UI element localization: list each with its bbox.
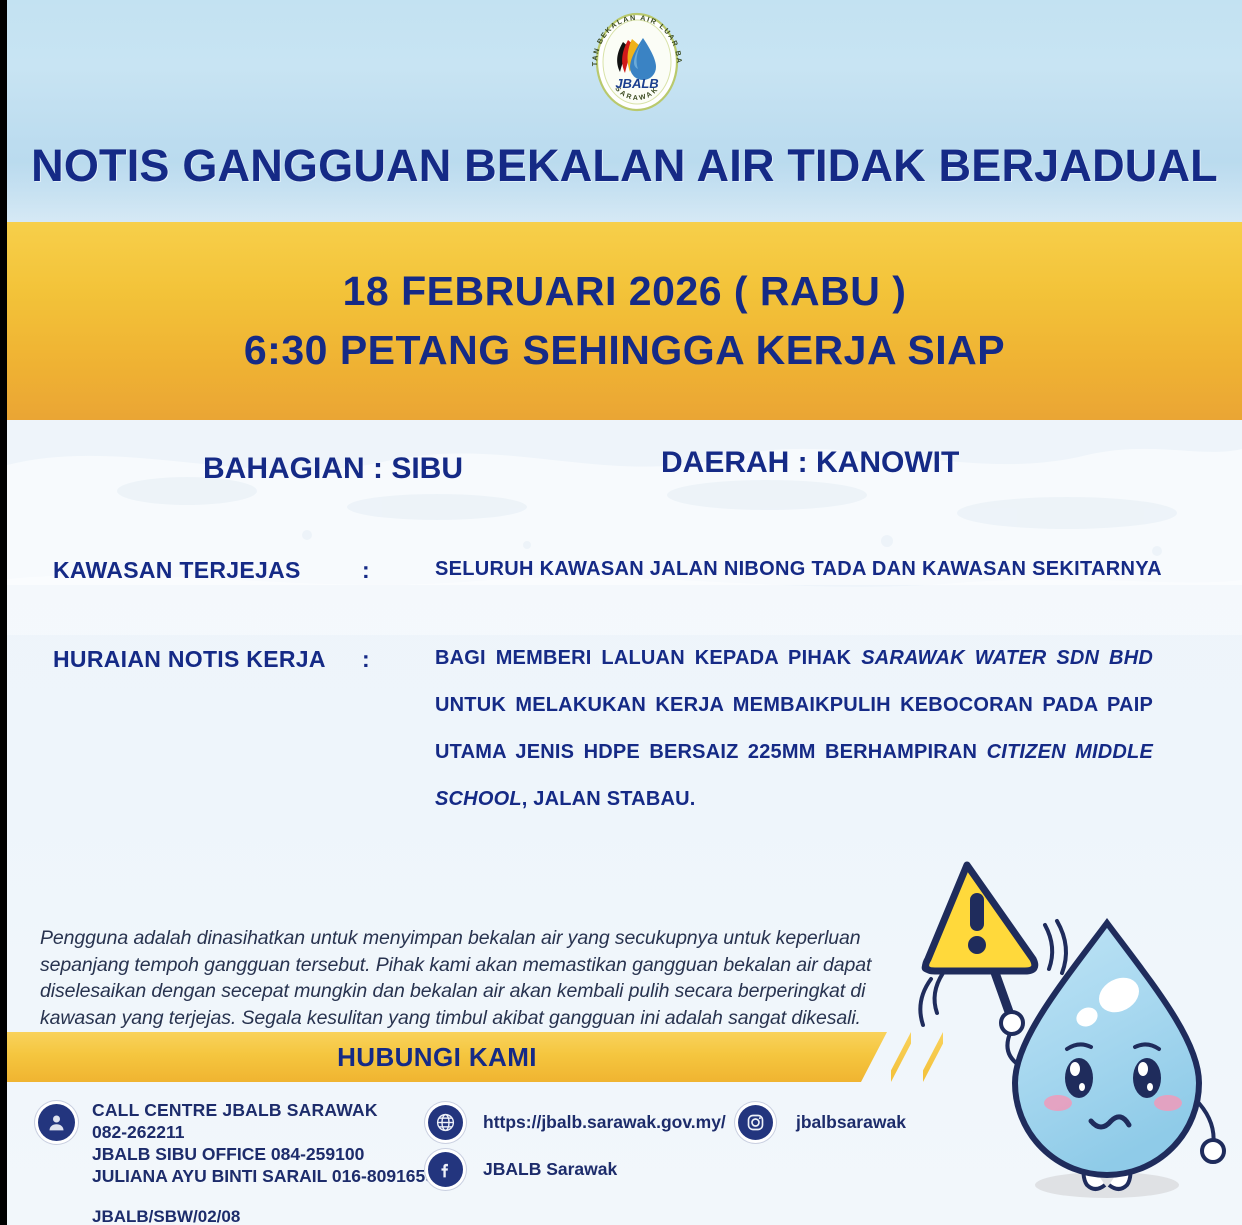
svg-text:JBALB: JBALB: [615, 76, 658, 91]
work-description-line: BAGI MEMBERI LALUAN KEPADA PIHAK SARAWAK…: [435, 647, 1153, 670]
contact-heading: HUBUNGI KAMI: [337, 1042, 557, 1073]
work-description-line: UNTUK MELAKUKAN KERJA MEMBAIKPULIH KEBOC…: [435, 694, 1153, 717]
call-centre-title: CALL CENTRE JBALB SARAWAK: [92, 1100, 378, 1121]
affected-area-value: SELURUH KAWASAN JALAN NIBONG TADA DAN KA…: [435, 558, 1172, 581]
work-description-line: UTAMA JENIS HDPE BERSAIZ 225MM BERHAMPIR…: [435, 741, 1153, 764]
facebook-icon[interactable]: [428, 1152, 463, 1187]
affected-area-colon: :: [362, 557, 370, 584]
work-description-line: SCHOOL, JALAN STABAU.: [435, 788, 1153, 811]
facebook-name[interactable]: JBALB Sarawak: [483, 1159, 617, 1180]
instagram-name[interactable]: jbalbsarawak: [796, 1112, 906, 1133]
notice-date: 18 FEBRUARI 2026 ( RABU ): [343, 268, 907, 315]
notice-title: NOTIS GANGGUAN BEKALAN AIR TIDAK BERJADU…: [7, 140, 1242, 192]
officer-contact[interactable]: JULIANA AYU BINTI SARAIL 016-8091659: [92, 1166, 435, 1187]
water-droplet-mascot: [907, 855, 1242, 1215]
notice-time: 6:30 PETANG SEHINGGA KERJA SIAP: [244, 327, 1005, 374]
work-description-value: BAGI MEMBERI LALUAN KEPADA PIHAK SARAWAK…: [435, 647, 1172, 835]
advisory-text: Pengguna adalah dinasihatkan untuk menyi…: [40, 925, 880, 1032]
division-label: BAHAGIAN : SIBU: [203, 452, 463, 486]
call-centre-number[interactable]: 082-262211: [92, 1122, 184, 1143]
date-banner: 18 FEBRUARI 2026 ( RABU ) 6:30 PETANG SE…: [7, 222, 1242, 420]
affected-area-label: KAWASAN TERJEJAS: [53, 557, 301, 584]
notice-poster: JABATAN BEKALAN AIR LUAR BANDAR SARAWAK …: [0, 0, 1242, 1225]
person-icon: [38, 1104, 75, 1141]
division-district-row: BAHAGIAN : SIBU DAERAH : KANOWIT: [7, 452, 1242, 498]
sibu-office-number[interactable]: JBALB SIBU OFFICE 084-259100: [92, 1144, 364, 1165]
reference-number: JBALB/SBW/02/08: [92, 1207, 240, 1225]
website-url[interactable]: https://jbalb.sarawak.gov.my/: [483, 1112, 726, 1133]
contact-heading-bar: HUBUNGI KAMI: [7, 1032, 887, 1082]
globe-icon[interactable]: [428, 1105, 463, 1140]
instagram-icon[interactable]: [738, 1105, 773, 1140]
district-label: DAERAH : KANOWIT: [661, 446, 959, 480]
jbalb-logo: JABATAN BEKALAN AIR LUAR BANDAR SARAWAK …: [583, 8, 691, 116]
work-description-colon: :: [362, 646, 370, 673]
work-description-label: HURAIAN NOTIS KERJA: [53, 646, 326, 673]
